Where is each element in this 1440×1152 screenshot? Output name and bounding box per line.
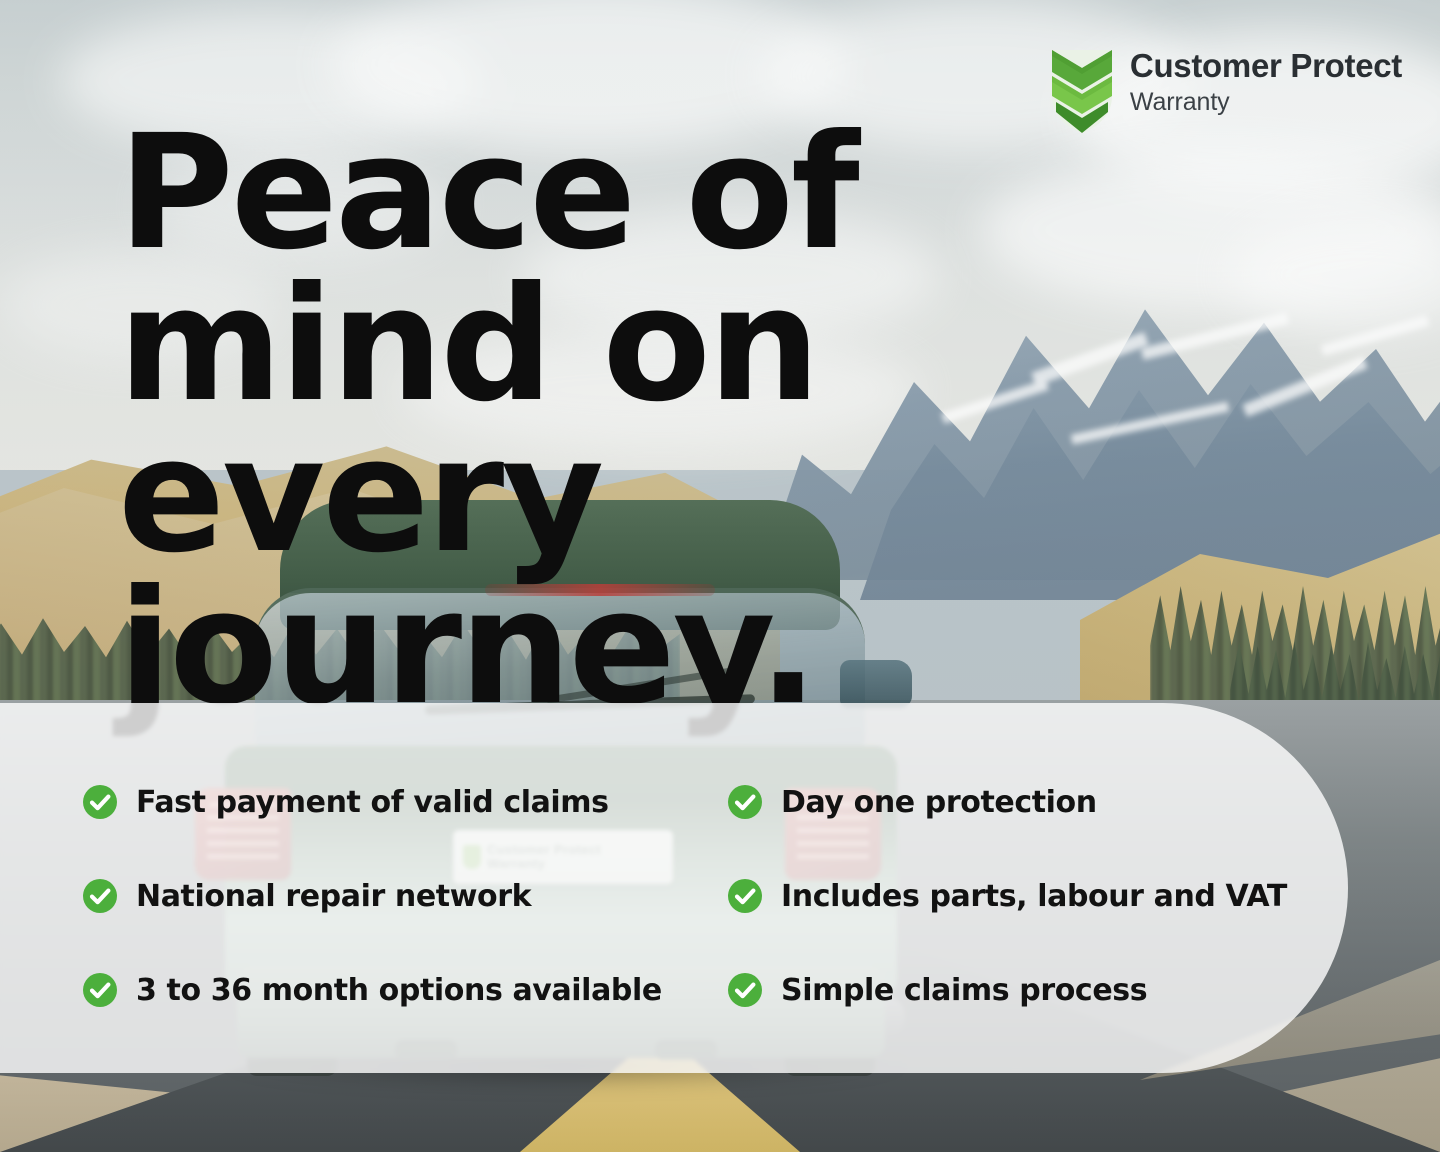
headline: Peace of mind on every journey. bbox=[118, 118, 1338, 725]
feature-list: Fast payment of valid claims Day one pro… bbox=[0, 703, 1440, 1073]
feature-label: 3 to 36 month options available bbox=[136, 973, 662, 1008]
feature-label: Includes parts, labour and VAT bbox=[781, 879, 1287, 914]
check-circle-icon bbox=[82, 972, 118, 1008]
check-circle-icon bbox=[82, 878, 118, 914]
check-circle-icon bbox=[727, 878, 763, 914]
headline-line-3: journey. bbox=[118, 573, 1338, 725]
feature-item: Fast payment of valid claims bbox=[82, 755, 727, 849]
headline-line-2: mind on every bbox=[118, 270, 1338, 573]
check-circle-icon bbox=[82, 784, 118, 820]
check-circle-icon bbox=[727, 972, 763, 1008]
feature-item: Includes parts, labour and VAT bbox=[727, 849, 1440, 943]
feature-item: 3 to 36 month options available bbox=[82, 943, 727, 1037]
feature-item: Day one protection bbox=[727, 755, 1440, 849]
brand-wordmark: Customer Protect Warranty bbox=[1130, 46, 1402, 118]
feature-label: Fast payment of valid claims bbox=[136, 785, 609, 820]
check-circle-icon bbox=[727, 784, 763, 820]
feature-label: Simple claims process bbox=[781, 973, 1147, 1008]
feature-item: Simple claims process bbox=[727, 943, 1440, 1037]
brand-name: Customer Protect bbox=[1130, 49, 1402, 84]
feature-label: National repair network bbox=[136, 879, 531, 914]
promo-banner: Customer Protect Warranty bbox=[0, 0, 1440, 1152]
headline-line-1: Peace of bbox=[118, 118, 1338, 270]
feature-label: Day one protection bbox=[781, 785, 1097, 820]
brand-subtitle: Warranty bbox=[1130, 87, 1402, 118]
feature-item: National repair network bbox=[82, 849, 727, 943]
